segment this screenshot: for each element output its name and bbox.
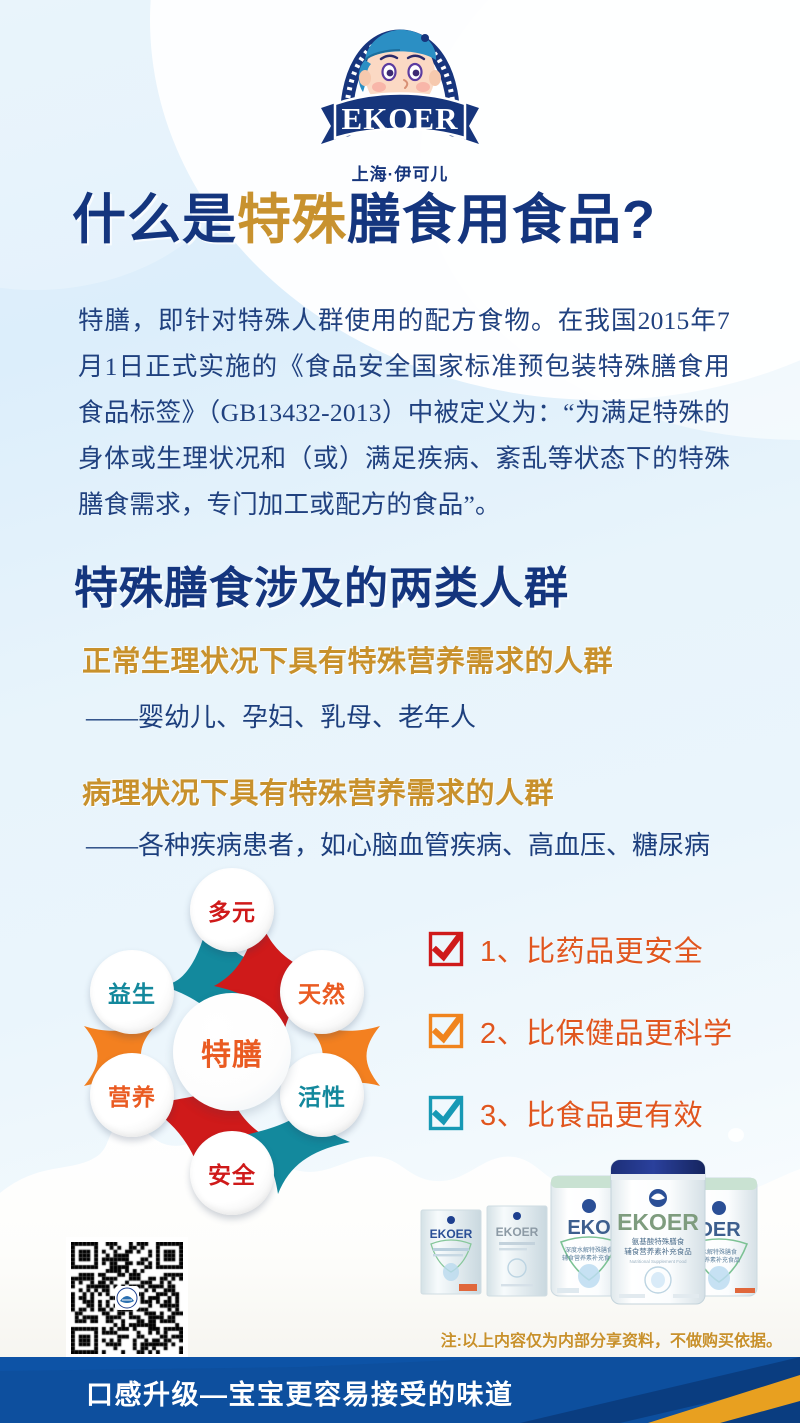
checkmark-icon-1 [428,931,464,967]
svg-text:辅食营养素补充食品: 辅食营养素补充食品 [624,1246,692,1256]
svg-text:Nutritional Supplement Food: Nutritional Supplement Food [629,1259,687,1264]
product-tin-center: EKOER 氨基酸特殊膳食 辅食营养素补充食品 Nutritional Supp… [611,1160,705,1304]
page-title: 什么是特殊膳食用食品? [72,192,732,249]
hex-node-upper-left: 益生 [90,950,174,1034]
hex-node-top: 多元 [190,868,274,952]
hex-node-upper-right-label: 天然 [298,975,346,1009]
disclaimer-note: 注:以上内容仅为内部分享资料，不做购买依据。 [441,1327,782,1351]
bottom-banner: 口感升级—宝宝更容易接受的味道 [0,1357,800,1423]
title-part1: 什么是 [72,190,237,250]
qr-center-logo [115,1286,139,1310]
product-box-1: EKOER [421,1210,481,1294]
product-lineup-image: EKOER EKOER EKO 深度水解特殊膳食 辅食营养素补充 [415,1148,800,1333]
baby-mascot-icon: EKOER [305,12,495,162]
hex-node-upper-left-label: 益生 [108,975,156,1009]
svg-text:EKO: EKO [567,1217,610,1239]
group-2-detail: ——各种疾病患者，如心脑血管疾病、高血压、糖尿病 [86,825,766,862]
svg-text:EKOER: EKOER [617,1209,699,1235]
hex-node-lower-right: 活性 [280,1053,364,1137]
banner-text: 口感升级—宝宝更容易接受的味道 [86,1373,514,1412]
checklist-label-1: 1、比药品更安全 [480,928,703,970]
hex-node-center-label: 特膳 [201,1030,263,1074]
benefits-checklist: 1、比药品更安全 2、比保健品更科学 3、比食品更有效 [428,928,733,1174]
product-box-2: EKOER [487,1206,547,1296]
svg-text:氨基酸特殊膳食: 氨基酸特殊膳食 [632,1236,685,1246]
intro-paragraph: 特膳，即针对特殊人群使用的配方食物。在我国2015年7月1日正式实施的《食品安全… [78,298,730,528]
checklist-label-3: 3、比食品更有效 [480,1092,703,1134]
poster-root: EKOER 上海·伊可儿 什么是特殊膳食用食品? 特膳，即针对特殊人群使用的配方… [0,0,800,1423]
checkmark-icon-2 [428,1013,464,1049]
checkmark-icon-3 [428,1095,464,1131]
hex-node-lower-left: 营养 [90,1053,174,1137]
brand-mascot-icon [116,1287,138,1309]
svg-text:EKOER: EKOER [342,101,459,136]
svg-text:水解特殊膳食: 水解特殊膳食 [701,1248,737,1256]
hexagon-diagram: 多元 天然 活性 安全 营养 益生 特膳 [62,868,402,1213]
hex-node-lower-right-label: 活性 [298,1078,346,1112]
brand-logo: EKOER 上海·伊可儿 [300,12,500,180]
qr-code-grid [71,1242,183,1354]
checklist-label-2: 2、比保健品更科学 [480,1010,733,1052]
hex-node-bottom: 安全 [190,1131,274,1215]
svg-text:深度水解特殊膳食: 深度水解特殊膳食 [565,1246,613,1254]
checklist-item-2: 2、比保健品更科学 [428,1010,733,1052]
qr-code[interactable] [66,1237,188,1359]
hex-node-upper-right: 天然 [280,950,364,1034]
group-1-subheading: 正常生理状况下具有特殊营养需求的人群 [82,638,742,680]
title-highlight: 特殊 [237,190,347,250]
logo-subtitle: 上海·伊可儿 [300,160,500,185]
svg-text:EKOER: EKOER [430,1227,473,1241]
group-1-detail: ——婴幼儿、孕妇、乳母、老年人 [86,697,766,734]
title-part2: 膳食用食品? [347,190,656,250]
hex-node-center: 特膳 [173,993,291,1111]
section-heading: 特殊膳食涉及的两类人群 [74,552,734,616]
checklist-item-1: 1、比药品更安全 [428,928,733,970]
svg-text:辅食营养素补充食品: 辅食营养素补充食品 [562,1254,616,1262]
group-2-subheading: 病理状况下具有特殊营养需求的人群 [82,770,742,812]
svg-text:EKOER: EKOER [496,1225,539,1239]
checklist-item-3: 3、比食品更有效 [428,1092,733,1134]
hex-node-bottom-label: 安全 [208,1156,256,1190]
hex-node-top-label: 多元 [208,893,256,927]
hex-node-lower-left-label: 营养 [108,1078,156,1112]
